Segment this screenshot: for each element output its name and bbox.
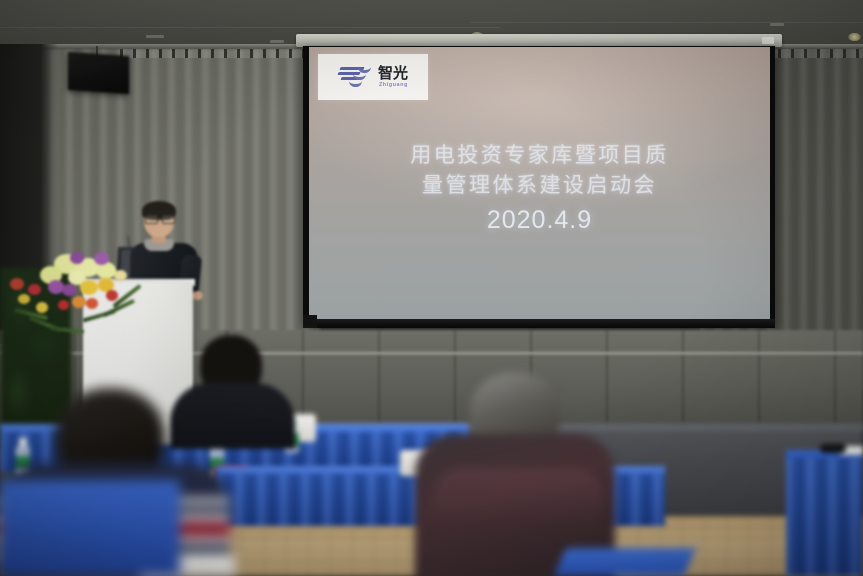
stage-riser-top-edge — [0, 424, 863, 431]
logo-chinese-name: 智光 — [378, 66, 408, 81]
logo-pinyin: Zhiguang — [378, 83, 408, 88]
ceiling-light — [848, 33, 861, 41]
curtain-hooks — [120, 49, 320, 58]
wall-rail — [0, 352, 863, 355]
zhiguang-logo-icon — [338, 64, 374, 90]
ceiling-seam — [470, 22, 863, 23]
slide-text-block: 用电投资专家库暨项目质 量管理体系建设启动会 2020.4.9 — [309, 140, 770, 235]
slide-title-line-1: 用电投资专家库暨项目质 — [309, 140, 770, 170]
slide-logo: 智光 Zhiguang — [318, 54, 428, 100]
stage-riser — [0, 424, 863, 519]
wall-panel-seams — [0, 330, 863, 430]
conference-room-photo: 智光 Zhiguang 用电投资专家库暨项目质 量管理体系建设启动会 2020.… — [0, 0, 863, 576]
ceiling-vent — [770, 23, 784, 26]
floor — [0, 516, 863, 576]
screen-housing-cap — [762, 37, 774, 44]
wall-speaker-icon — [68, 52, 129, 94]
floral-arrangement — [10, 250, 145, 340]
slide-title-line-2: 量管理体系建设启动会 — [309, 170, 770, 200]
ceiling-vent — [270, 40, 284, 43]
slide-date: 2020.4.9 — [309, 206, 770, 235]
ceiling-vent — [146, 35, 164, 38]
screen-bottom-bar — [303, 319, 775, 328]
screen-bottom-tab — [303, 315, 317, 328]
ceiling-seam — [0, 27, 500, 28]
